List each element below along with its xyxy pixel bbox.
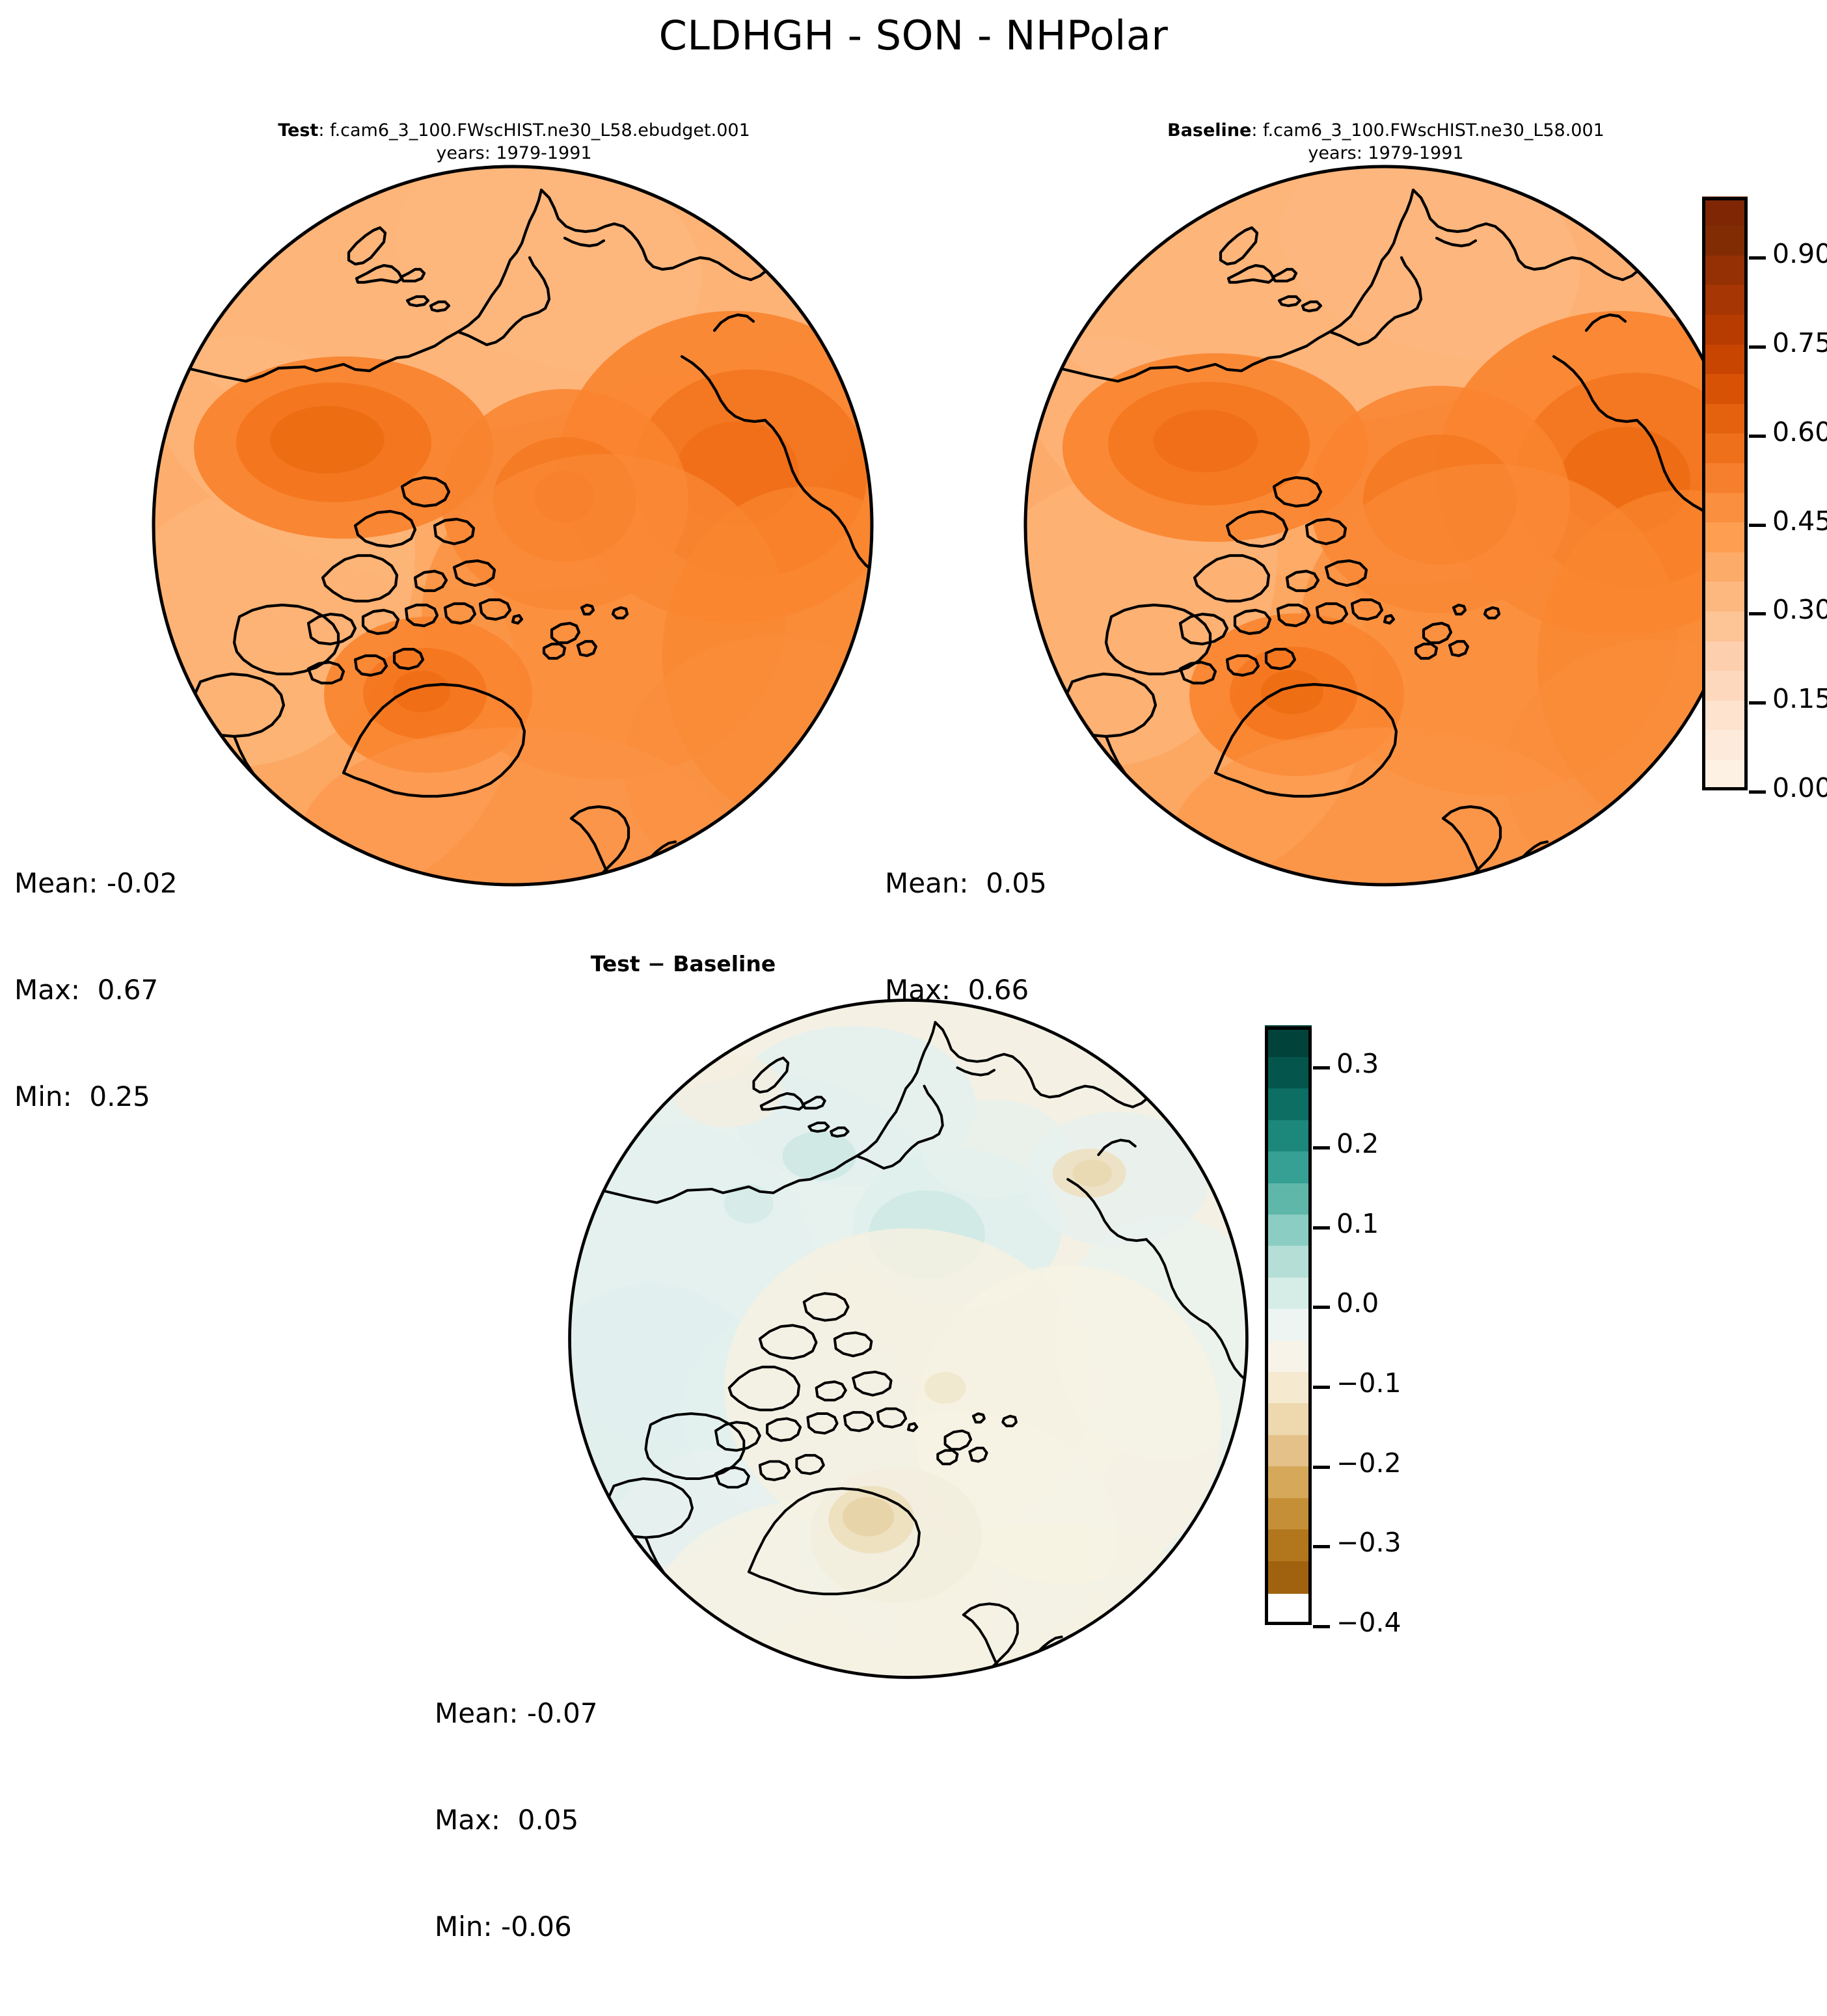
colorbar-tick <box>1313 1466 1330 1469</box>
figure-title: CLDHGH - SON - NHPolar <box>0 12 1827 59</box>
baseline-panel-title: Baseline: f.cam6_3_100.FWscHIST.ne30_L58… <box>1080 120 1692 165</box>
colorbar-tick-label: 0.60 <box>1772 416 1827 448</box>
colorbar-tick <box>1749 790 1766 794</box>
test-stat-mean: Mean: -0.02 <box>14 866 178 902</box>
colorbar-tick-label: 0.30 <box>1772 594 1827 625</box>
test-stats: Mean: -0.02 Max: 0.67 Min: 0.25 <box>14 795 178 1186</box>
test-polar-map <box>148 161 877 890</box>
colorbar-tick <box>1313 1146 1330 1149</box>
colorbar-tick-label: 0.90 <box>1772 238 1827 269</box>
colorbar-tick <box>1313 1625 1330 1628</box>
colorbar-tick <box>1749 345 1766 349</box>
colorbar-tick <box>1313 1386 1330 1389</box>
difference-polar-map <box>565 995 1252 1682</box>
difference-colorbar-frame <box>1265 1027 1312 1625</box>
baseline-title-lead: Baseline <box>1167 120 1251 141</box>
difference-stat-mean: Mean: -0.07 <box>435 1696 598 1732</box>
colorbar-tick <box>1749 524 1766 527</box>
test-map-svg <box>148 161 877 890</box>
baseline-title-sep: : <box>1251 120 1263 141</box>
baseline-stat-mean: Mean: 0.05 <box>885 866 1047 902</box>
colorbar-tick-label: −0.1 <box>1336 1367 1401 1399</box>
main-colorbar[interactable] <box>1702 197 1748 790</box>
colorbar-tick <box>1749 612 1766 615</box>
test-stat-min: Min: 0.25 <box>14 1079 178 1115</box>
colorbar-tick <box>1749 435 1766 438</box>
colorbar-tick <box>1313 1066 1330 1069</box>
colorbar-tick-label: −0.3 <box>1336 1527 1401 1558</box>
colorbar-tick <box>1313 1306 1330 1309</box>
main-colorbar-frame <box>1702 197 1748 790</box>
colorbar-tick-label: 0.00 <box>1772 772 1827 803</box>
colorbar-tick-label: 0.75 <box>1772 327 1827 358</box>
difference-stats: Mean: -0.07 Max: 0.05 Min: -0.06 <box>435 1625 598 2016</box>
colorbar-tick <box>1749 256 1766 260</box>
baseline-map-svg <box>1020 161 1749 890</box>
colorbar-tick-label: 0.45 <box>1772 505 1827 537</box>
colorbar-tick-label: 0.15 <box>1772 683 1827 714</box>
difference-panel-title: Test − Baseline <box>586 951 781 976</box>
test-stat-max: Max: 0.67 <box>14 973 178 1008</box>
colorbar-tick-label: −0.2 <box>1336 1447 1401 1479</box>
colorbar-tick <box>1313 1226 1330 1230</box>
difference-stat-max: Max: 0.05 <box>435 1803 598 1838</box>
colorbar-tick-label: 0.1 <box>1336 1208 1379 1239</box>
baseline-title-case: f.cam6_3_100.FWscHIST.ne30_L58.001 <box>1263 120 1604 141</box>
colorbar-tick-label: −0.4 <box>1336 1607 1401 1638</box>
colorbar-tick-label: 0.0 <box>1336 1287 1379 1319</box>
colorbar-tick-label: 0.3 <box>1336 1048 1379 1079</box>
figure-canvas: CLDHGH - SON - NHPolar Test: f.cam6_3_10… <box>0 0 1827 1735</box>
colorbar-tick <box>1313 1545 1330 1548</box>
difference-map-svg <box>565 995 1252 1682</box>
test-panel-title: Test: f.cam6_3_100.FWscHIST.ne30_L58.ebu… <box>208 120 820 165</box>
colorbar-tick-label: 0.2 <box>1336 1128 1379 1159</box>
test-title-sep: : <box>318 120 330 141</box>
difference-stat-min: Min: -0.06 <box>435 1909 598 1945</box>
colorbar-tick <box>1749 701 1766 705</box>
test-title-lead: Test <box>278 120 318 141</box>
test-title-case: f.cam6_3_100.FWscHIST.ne30_L58.ebudget.0… <box>330 120 750 141</box>
baseline-polar-map <box>1020 161 1749 890</box>
difference-colorbar[interactable] <box>1265 1027 1312 1625</box>
